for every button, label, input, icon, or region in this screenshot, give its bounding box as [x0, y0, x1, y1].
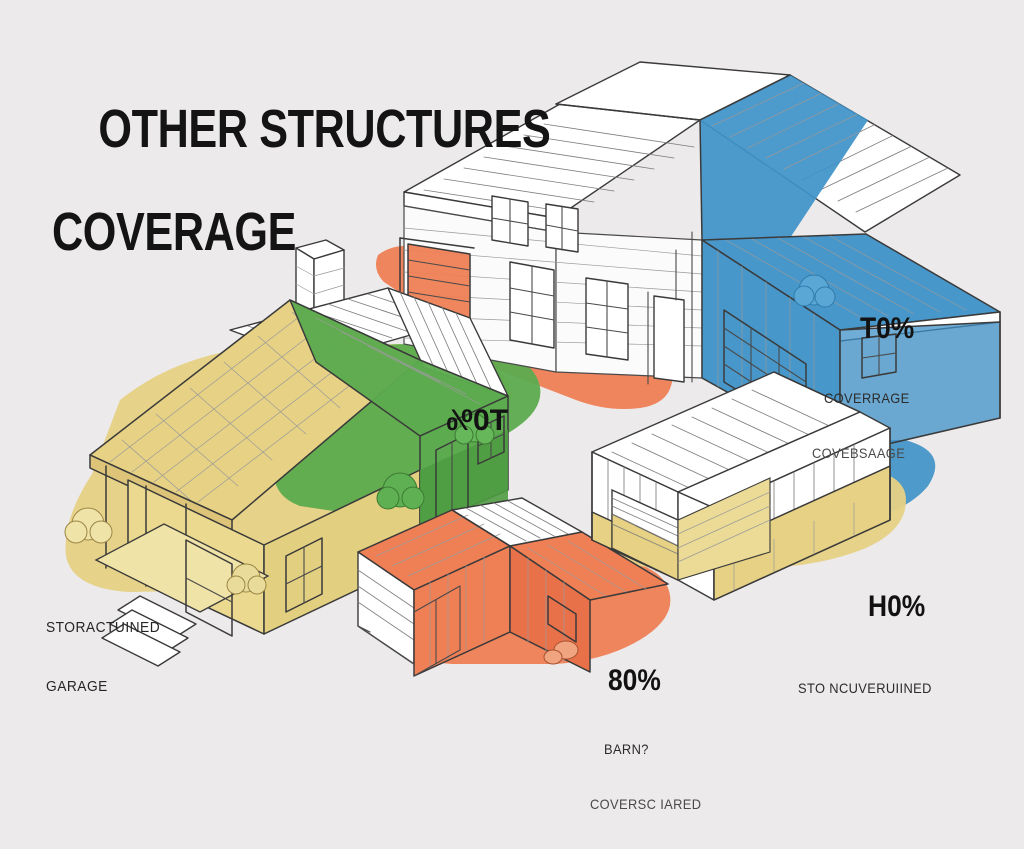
- house-window: [586, 278, 628, 360]
- callout-main-house-percent: T0%: [860, 314, 914, 344]
- page-title-line1: OTHER STRUCTURES: [98, 99, 550, 159]
- callout-main-house: T0% COVERRAGE COVEBSAAGE: [860, 278, 922, 498]
- infographic-canvas: .ln { fill:none; stroke:#3a3a3a; stroke-…: [0, 0, 1024, 768]
- callout-cottage: T0%: [490, 388, 569, 454]
- callout-shed-garage: H0% STO NCUVERUIINED: [868, 556, 943, 734]
- page-title: OTHER STRUCTURES COVERAGE: [52, 52, 550, 363]
- label-cottage-line1: STORACTUINED: [46, 619, 160, 639]
- callout-shed-garage-sub1: STO NCUVERUIINED: [798, 680, 932, 698]
- callout-barn: 80% BARN? COVERSC IARED: [608, 630, 711, 849]
- label-cottage: STORACTUINED GARAGE: [46, 580, 160, 737]
- callout-main-house-sub2: COVEBSAAGE: [812, 445, 913, 463]
- callout-main-house-sub1: COVERRAGE: [824, 390, 914, 408]
- callout-shed-garage-percent: H0%: [868, 592, 934, 622]
- callout-barn-sub2: COVERSC IARED: [590, 796, 701, 814]
- label-cottage-line2: GARAGE: [46, 678, 160, 698]
- page-title-line2: COVERAGE: [52, 207, 550, 259]
- house-window: [546, 204, 578, 252]
- callout-cottage-percent: T0%: [446, 406, 508, 436]
- callout-barn-percent: 80%: [608, 666, 699, 696]
- callout-barn-sub1: BARN?: [604, 741, 703, 759]
